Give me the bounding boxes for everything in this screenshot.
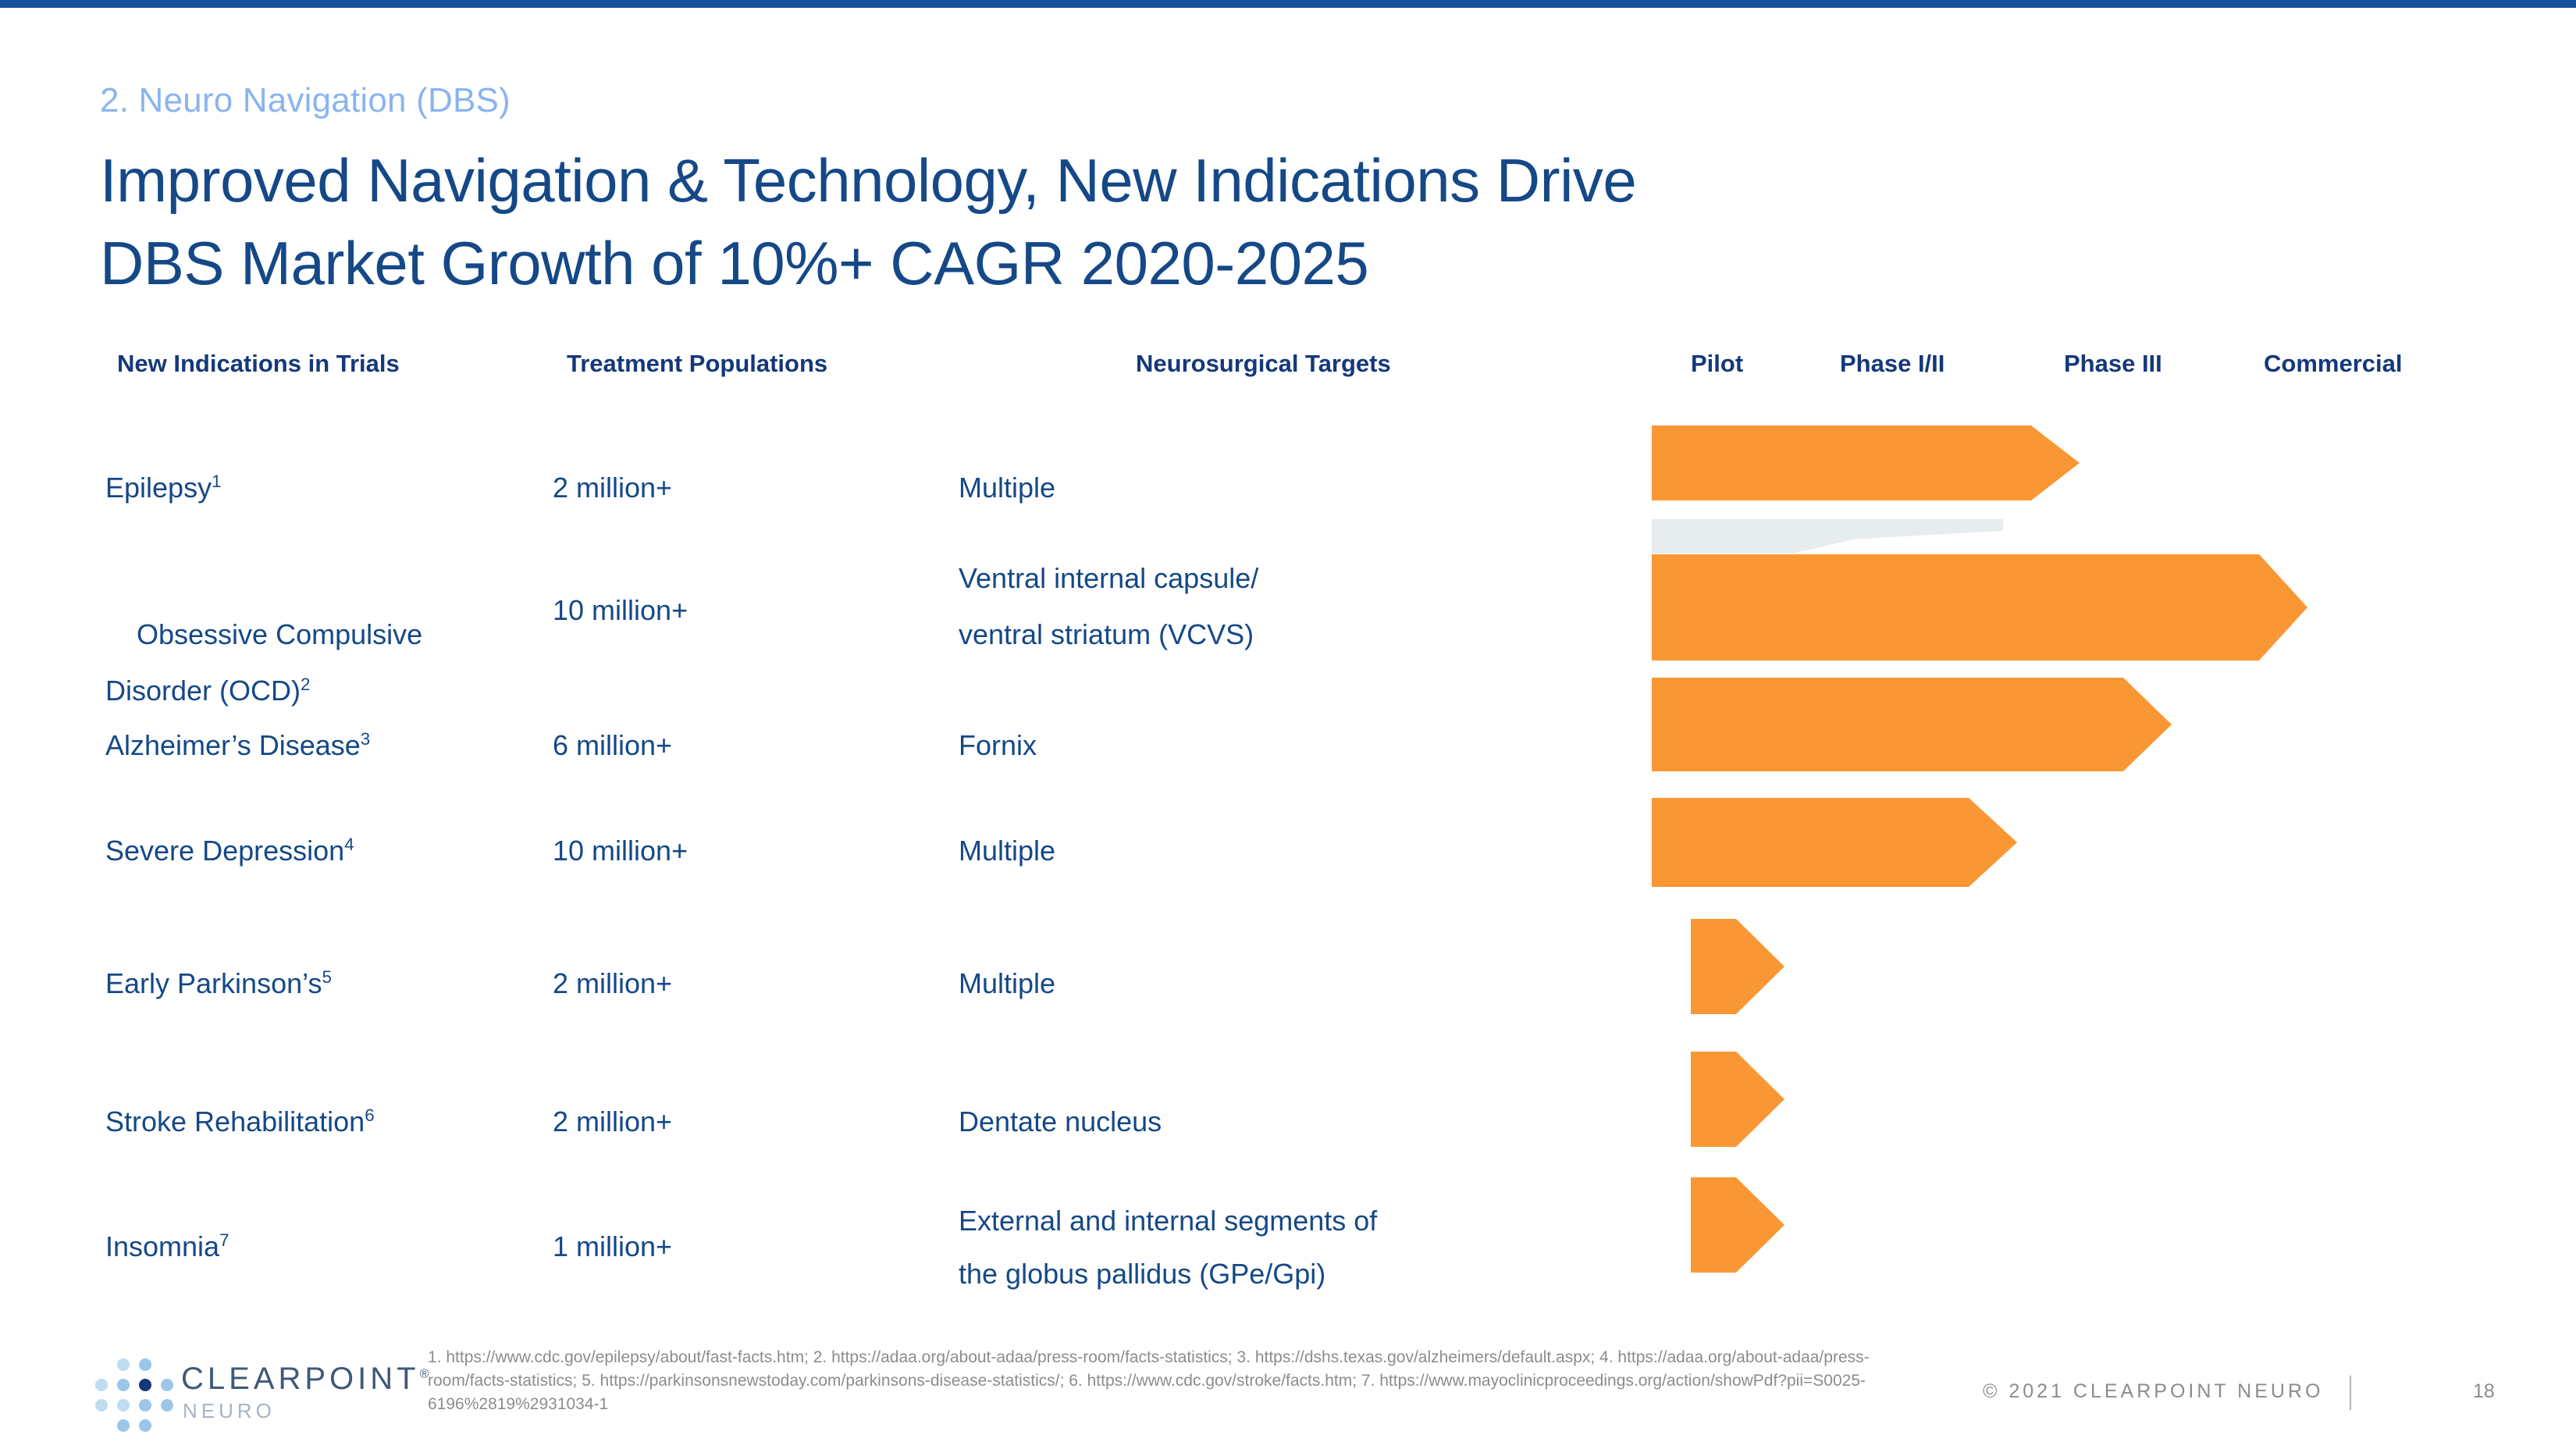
cell-population: 10 million+ xyxy=(553,591,688,630)
table-row: Alzheimer’s Disease3 xyxy=(105,726,370,765)
cell-target: Multiple xyxy=(959,831,1055,870)
footer-divider xyxy=(2350,1376,2351,1410)
stage-bar-stroke-rehab xyxy=(1691,1052,1784,1147)
cell-population: 2 million+ xyxy=(553,1102,672,1141)
column-header-pilot: Pilot xyxy=(1691,350,1743,378)
footnote-ref: 3 xyxy=(361,729,370,749)
cell-target: External and internal segments of the gl… xyxy=(959,1194,1377,1301)
cell-indication: Stroke Rehabilitation xyxy=(105,1105,365,1137)
cell-target: Fornix xyxy=(959,726,1037,765)
bar-shadow-band xyxy=(1652,519,2003,554)
cell-population: 6 million+ xyxy=(553,726,672,765)
column-header-targets: Neurosurgical Targets xyxy=(1136,350,1391,378)
cell-indication: Early Parkinson’s xyxy=(105,967,322,999)
column-header-indications: New Indications in Trials xyxy=(117,350,400,378)
stage-bar-epilepsy xyxy=(1652,425,2080,500)
cell-indication: Insomnia xyxy=(105,1230,219,1262)
cell-indication: Severe Depression xyxy=(105,835,344,867)
cell-target: Multiple xyxy=(959,468,1055,507)
cell-population: 10 million+ xyxy=(553,831,688,870)
footnote-ref: 4 xyxy=(344,835,354,854)
logo-dot-matrix-icon xyxy=(94,1358,165,1424)
table-row: Epilepsy1 xyxy=(105,468,222,507)
cell-population: 2 million+ xyxy=(553,964,672,1003)
footnote-ref: 2 xyxy=(301,675,310,694)
footnotes: 1. https://www.cdc.gov/epilepsy/about/fa… xyxy=(428,1346,1934,1416)
copyright-notice: © 2021 CLEARPOINT NEURO xyxy=(1983,1380,2323,1403)
section-eyebrow: 2. Neuro Navigation (DBS) xyxy=(100,81,511,120)
stage-bar-severe-depression xyxy=(1652,798,2017,887)
footnote-ref: 5 xyxy=(322,967,331,987)
cell-target: Ventral internal capsule/ ventral striat… xyxy=(959,550,1258,663)
cell-indication: Alzheimer’s Disease xyxy=(105,729,361,761)
cell-population: 1 million+ xyxy=(553,1227,672,1266)
column-header-populations: Treatment Populations xyxy=(567,350,827,378)
stage-bar-early-parkinsons xyxy=(1691,919,1784,1014)
cell-indication: Obsessive Compulsive Disorder (OCD) xyxy=(105,618,422,707)
table-row: Severe Depression4 xyxy=(105,831,354,870)
stage-bar-insomnia xyxy=(1691,1177,1784,1273)
table-row: Early Parkinson’s5 xyxy=(105,964,332,1003)
top-accent-rule xyxy=(0,0,2576,8)
page-title: Improved Navigation & Technology, New In… xyxy=(100,139,1636,304)
logo-subtext: NEURO xyxy=(183,1399,276,1423)
column-header-phase-1-2: Phase I/II xyxy=(1840,350,1944,378)
table-row: Stroke Rehabilitation6 xyxy=(105,1102,375,1141)
column-header-phase-3: Phase III xyxy=(2064,350,2162,378)
cell-indication: Epilepsy xyxy=(105,472,212,504)
table-row: Insomnia7 xyxy=(105,1227,229,1266)
footnote-ref: 7 xyxy=(219,1230,229,1250)
footnote-ref: 6 xyxy=(365,1105,374,1125)
stage-bar-ocd xyxy=(1652,554,2307,660)
stage-bar-alzheimers xyxy=(1652,678,2172,771)
footnote-ref: 1 xyxy=(212,472,221,491)
cell-population: 2 million+ xyxy=(553,468,672,507)
slide-canvas: 2. Neuro Navigation (DBS) Improved Navig… xyxy=(0,0,2576,1449)
cell-target: Dentate nucleus xyxy=(959,1102,1162,1141)
logo-wordmark: CLEARPOINT® xyxy=(181,1362,432,1397)
page-number: 18 xyxy=(2473,1380,2495,1403)
column-header-commercial: Commercial xyxy=(2264,350,2402,378)
cell-target: Multiple xyxy=(959,964,1055,1003)
